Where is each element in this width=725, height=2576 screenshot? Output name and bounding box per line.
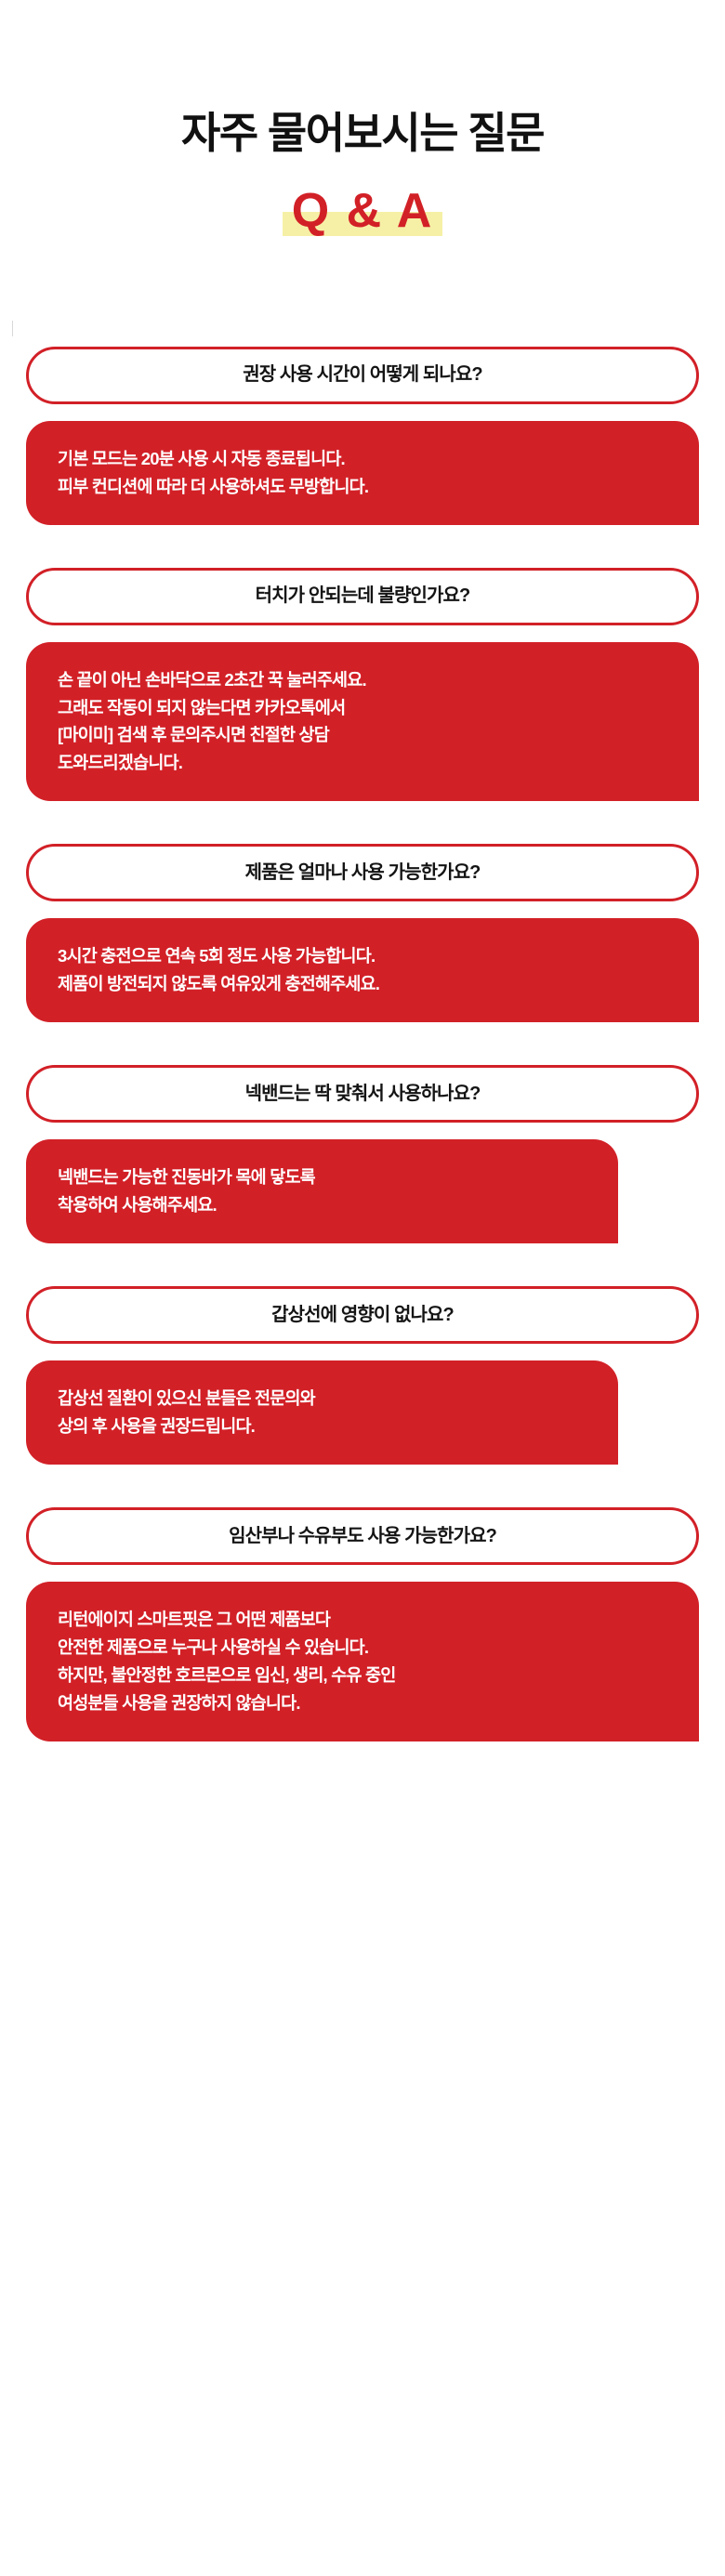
faq-list: 권장 사용 시간이 어떻게 되나요?기본 모드는 20분 사용 시 자동 종료됩… [0, 347, 725, 1742]
answer-bubble: 리턴에이지 스마트핏은 그 어떤 제품보다 안전한 제품으로 누구나 사용하실 … [26, 1582, 699, 1741]
answer-text: 손 끝이 아닌 손바닥으로 2초간 꾹 눌러주세요. 그래도 작동이 되지 않는… [58, 666, 667, 778]
qa-mark-label: Q & A [292, 184, 434, 238]
faq-item: 넥밴드는 딱 맞춰서 사용하나요?넥밴드는 가능한 진동바가 목에 닿도록 착용… [0, 1065, 725, 1243]
faq-item: 권장 사용 시간이 어떻게 되나요?기본 모드는 20분 사용 시 자동 종료됩… [0, 347, 725, 525]
left-margin-tick [12, 321, 13, 336]
question-bubble[interactable]: 갑상선에 영향이 없나요? [26, 1286, 699, 1344]
faq-page: 자주 물어보시는 질문 Q & A 권장 사용 시간이 어떻게 되나요?기본 모… [0, 0, 725, 2576]
question-bubble[interactable]: 임산부나 수유부도 사용 가능한가요? [26, 1507, 699, 1565]
answer-bubble: 3시간 충전으로 연속 5회 정도 사용 가능합니다. 제품이 방전되지 않도록… [26, 918, 699, 1022]
page-header: 자주 물어보시는 질문 Q & A [0, 0, 725, 237]
question-text: 터치가 안되는데 불량인가요? [256, 584, 470, 609]
answer-text: 넥밴드는 가능한 진동바가 목에 닿도록 착용하여 사용해주세요. [58, 1163, 587, 1219]
answer-text: 리턴에이지 스마트핏은 그 어떤 제품보다 안전한 제품으로 누구나 사용하실 … [58, 1606, 667, 1717]
faq-item: 터치가 안되는데 불량인가요?손 끝이 아닌 손바닥으로 2초간 꾹 눌러주세요… [0, 568, 725, 802]
qa-mark: Q & A [283, 187, 443, 237]
faq-item: 갑상선에 영향이 없나요?갑상선 질환이 있으신 분들은 전문의와 상의 후 사… [0, 1286, 725, 1465]
question-bubble[interactable]: 제품은 얼마나 사용 가능한가요? [26, 844, 699, 901]
question-text: 갑상선에 영향이 없나요? [271, 1303, 454, 1328]
answer-bubble: 기본 모드는 20분 사용 시 자동 종료됩니다. 피부 컨디션에 따라 더 사… [26, 421, 699, 525]
question-bubble[interactable]: 권장 사용 시간이 어떻게 되나요? [26, 347, 699, 404]
question-text: 넥밴드는 딱 맞춰서 사용하나요? [245, 1082, 481, 1107]
answer-bubble: 갑상선 질환이 있으신 분들은 전문의와 상의 후 사용을 권장드립니다. [26, 1360, 618, 1465]
question-bubble[interactable]: 터치가 안되는데 불량인가요? [26, 568, 699, 625]
faq-item: 제품은 얼마나 사용 가능한가요?3시간 충전으로 연속 5회 정도 사용 가능… [0, 844, 725, 1022]
answer-text: 기본 모드는 20분 사용 시 자동 종료됩니다. 피부 컨디션에 따라 더 사… [58, 445, 667, 501]
faq-item: 임산부나 수유부도 사용 가능한가요?리턴에이지 스마트핏은 그 어떤 제품보다… [0, 1507, 725, 1741]
qa-mark-wrapper: Q & A [0, 187, 725, 237]
answer-bubble: 넥밴드는 가능한 진동바가 목에 닿도록 착용하여 사용해주세요. [26, 1139, 618, 1243]
question-text: 제품은 얼마나 사용 가능한가요? [245, 861, 481, 886]
page-title: 자주 물어보시는 질문 [0, 110, 725, 157]
answer-bubble: 손 끝이 아닌 손바닥으로 2초간 꾹 눌러주세요. 그래도 작동이 되지 않는… [26, 642, 699, 802]
question-text: 임산부나 수유부도 사용 가능한가요? [229, 1524, 496, 1549]
answer-text: 3시간 충전으로 연속 5회 정도 사용 가능합니다. 제품이 방전되지 않도록… [58, 942, 667, 998]
question-bubble[interactable]: 넥밴드는 딱 맞춰서 사용하나요? [26, 1065, 699, 1123]
answer-text: 갑상선 질환이 있으신 분들은 전문의와 상의 후 사용을 권장드립니다. [58, 1385, 587, 1440]
question-text: 권장 사용 시간이 어떻게 되나요? [243, 362, 481, 388]
